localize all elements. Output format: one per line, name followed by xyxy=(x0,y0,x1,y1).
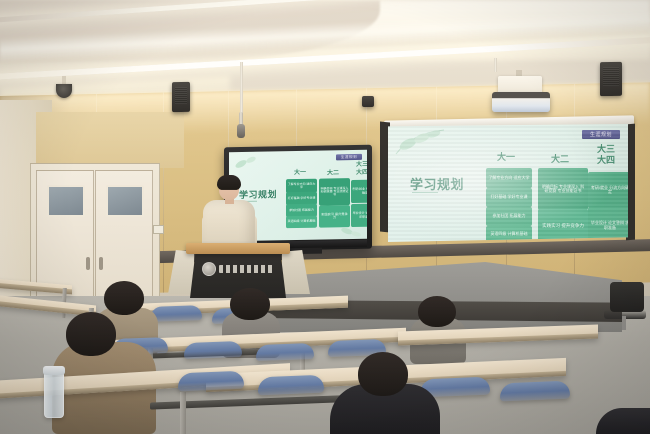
classroom-scene: 生涯规划 学习规划 大一 了解专业方向 适应大学 打好基础 学好专业课 参加社团… xyxy=(0,0,650,434)
slide-title-rule xyxy=(412,192,438,193)
slide-title: 学习规划 xyxy=(239,187,277,201)
office-chair-back xyxy=(610,282,644,312)
student-head xyxy=(104,281,144,315)
door-window-icon xyxy=(47,185,85,217)
wall-speaker-left xyxy=(172,82,190,112)
slide-box: 毕业设计 论文答辩 求职准备 xyxy=(588,207,628,242)
slide-column-header-3: 大三 大四 xyxy=(350,162,367,177)
slide-box: 考研/就业 分流方向确定 xyxy=(588,172,628,208)
door-leaf-left[interactable] xyxy=(36,170,94,300)
slide-box: 了解专业方向 适应大学 xyxy=(486,168,532,188)
slide-title: 学习规划 xyxy=(410,174,464,193)
office-chair-post xyxy=(622,316,626,330)
ceiling-rod-left xyxy=(240,62,243,114)
chair[interactable] xyxy=(258,375,324,396)
slide-box: 参加社团 拓展能力 xyxy=(486,207,532,226)
door-handle-left[interactable] xyxy=(86,257,90,270)
slide-projected: 生涯规划 学习规划 大一 了解专业方向 适应大学 打好基础 学好专业课 参加社团… xyxy=(388,124,628,242)
chair[interactable] xyxy=(500,381,570,402)
slide-box: 英语四级 计算机基础 xyxy=(286,216,317,229)
slide-badge: 生涯规划 xyxy=(336,154,362,160)
chair[interactable] xyxy=(184,341,242,359)
slide-box: 明确目标 专业课深入 科研竞赛 专业技能证书 xyxy=(538,168,588,210)
slide-column-header-3: 大三 大四 xyxy=(586,144,626,167)
slide-column-header-1: 大一 xyxy=(285,167,315,177)
presenter-hair xyxy=(217,175,241,190)
slide-box: 实践实习 提升竞争力 xyxy=(538,209,588,242)
left-wall-upper-panel xyxy=(36,112,184,168)
student-head xyxy=(230,288,270,320)
office-chair[interactable] xyxy=(600,282,646,334)
student-head xyxy=(66,312,116,356)
projection-screen[interactable]: 生涯规划 学习规划 大一 了解专业方向 适应大学 打好基础 学好专业课 参加社团… xyxy=(388,124,628,242)
slide-box: 考研/就业 分流方向确定 xyxy=(351,180,367,203)
slide-box: 打好基础 学好专业课 xyxy=(486,188,532,207)
slide-column-header-1: 大一 xyxy=(484,150,528,163)
bottle-cap xyxy=(43,366,65,375)
ceiling-microphone-icon xyxy=(237,124,245,138)
wall-sensor-icon xyxy=(362,96,374,107)
university-name-text xyxy=(219,265,274,273)
chair[interactable] xyxy=(150,305,202,322)
chair[interactable] xyxy=(178,371,244,392)
water-bottle[interactable] xyxy=(44,372,64,418)
podium-university-logo xyxy=(202,262,274,276)
student-head xyxy=(418,296,456,327)
ceiling-rod-right xyxy=(494,58,497,72)
presenter-glasses-icon xyxy=(221,189,237,194)
ceiling-projector xyxy=(492,92,550,112)
university-emblem-icon xyxy=(202,262,216,276)
door-handle-right[interactable] xyxy=(99,257,103,270)
door-window-icon xyxy=(106,185,144,217)
chair[interactable] xyxy=(256,343,314,361)
slide-box: 毕业设计 论文答辩 求职准备 xyxy=(351,204,367,227)
wall-speaker-right xyxy=(600,62,622,96)
slide-badge: 生涯规划 xyxy=(582,130,620,139)
light-switch-icon[interactable] xyxy=(153,225,164,234)
leaf-decoration-icon xyxy=(232,154,262,173)
slide-box: 实践实习 提升竞争力 xyxy=(319,205,350,228)
podium-top-surface xyxy=(186,243,290,254)
slide-box: 明确目标 专业课深入 科研竞赛 专业技能证书 xyxy=(319,178,350,206)
slide-column-header-2: 大二 xyxy=(319,167,347,176)
leaf-decoration-icon xyxy=(394,128,446,158)
student-head xyxy=(358,352,408,396)
slide-column-header-2: 大二 xyxy=(538,152,582,165)
desk-leg xyxy=(180,392,186,434)
